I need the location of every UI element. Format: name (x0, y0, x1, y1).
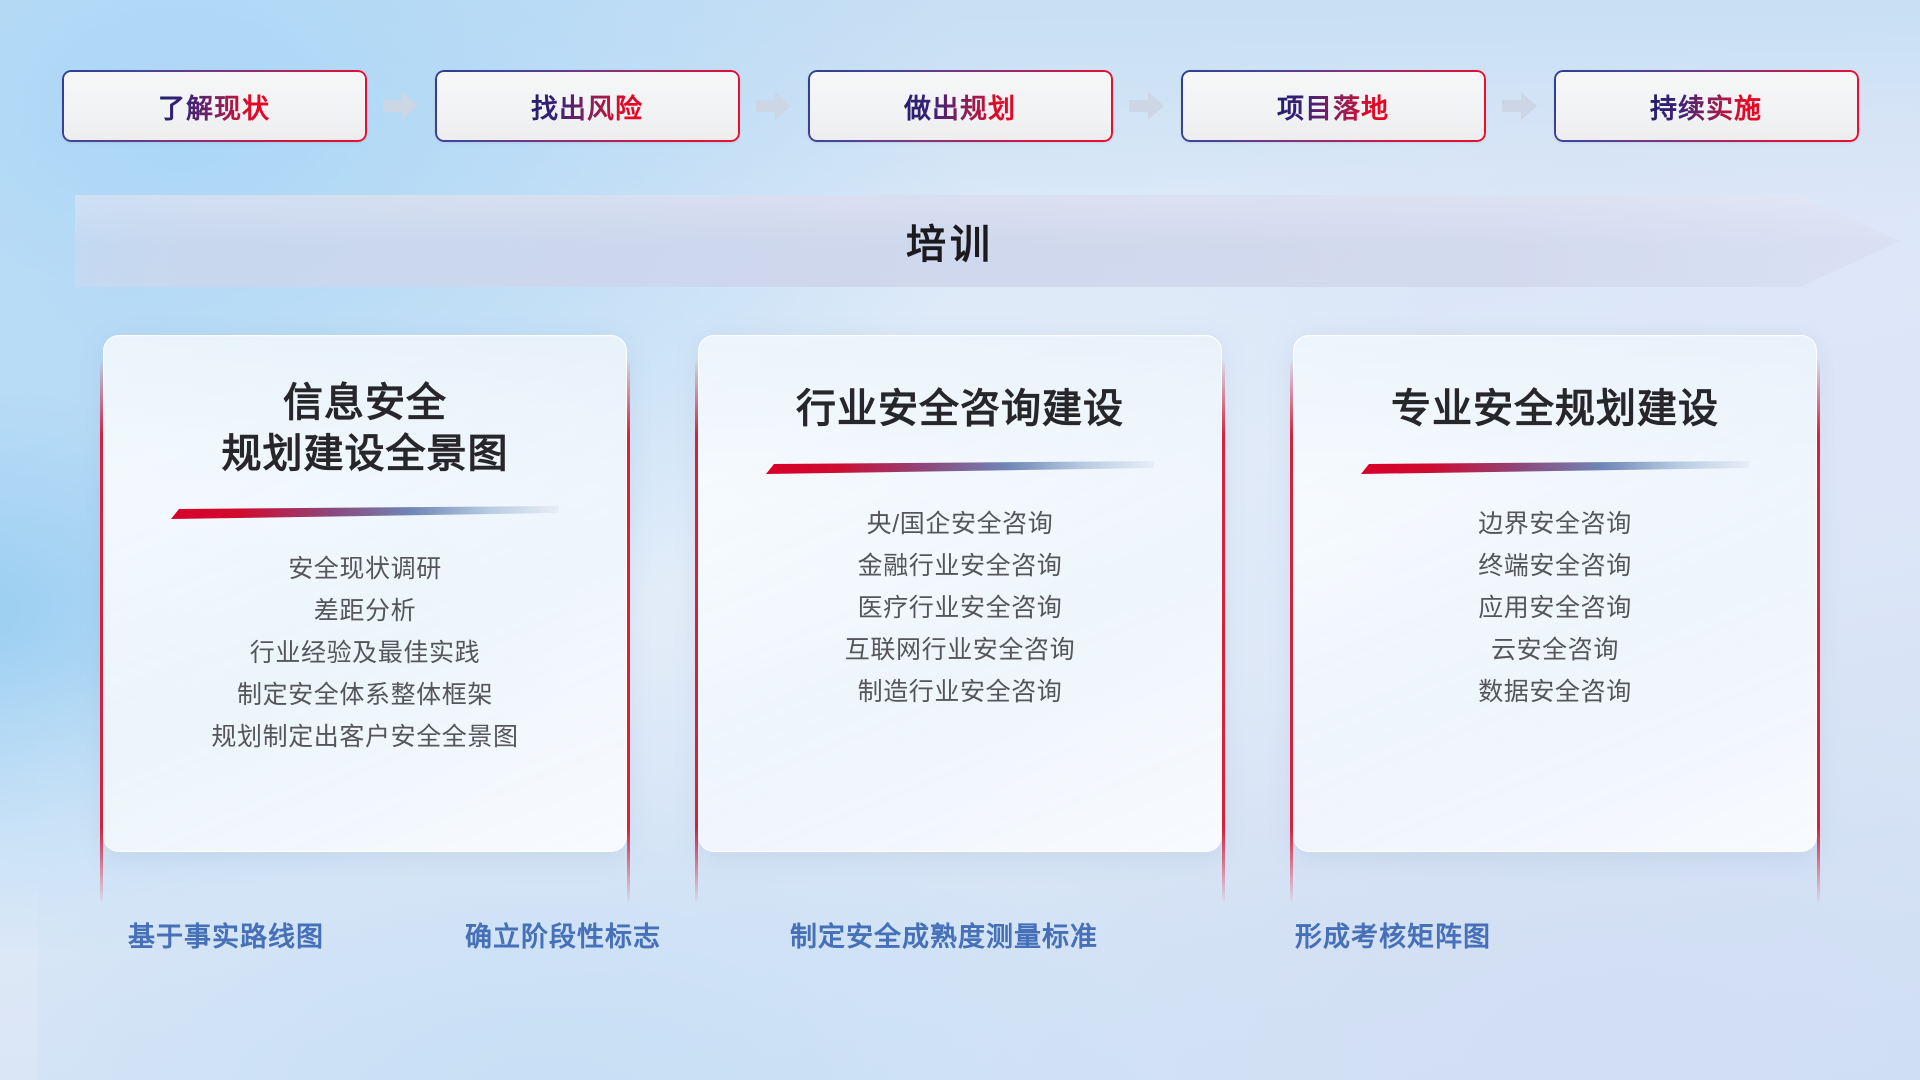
step-box-1[interactable]: 了解现状 (62, 70, 367, 142)
list-item: 行业经验及最佳实践 (211, 632, 518, 674)
card-1-title-line-1: 信息安全 (222, 378, 509, 429)
chevron-right-arrow-icon (1502, 91, 1538, 121)
card-1-divider (171, 506, 559, 522)
card-3-title: 专业安全规划建设 (1391, 384, 1719, 435)
card-3[interactable]: 专业安全规划建设 (1290, 335, 1820, 880)
list-item: 安全现状调研 (211, 548, 518, 590)
caption-row: 基于事实路线图 确立阶段性标志 制定安全成熟度测量标准 形成考核矩阵图 (0, 915, 1920, 963)
card-1[interactable]: 信息安全 规划建设全景图 (100, 335, 630, 880)
card-3-body: 专业安全规划建设 (1293, 335, 1817, 852)
chevron-right-arrow-icon (756, 91, 792, 121)
step-box-5[interactable]: 持续实施 (1554, 70, 1859, 142)
card-1-right-accent (627, 359, 630, 904)
banner-label: 培训 (0, 195, 1920, 287)
chevron-right-arrow-icon (383, 91, 419, 121)
list-item: 规划制定出客户安全全景图 (211, 716, 518, 758)
list-item: 云安全咨询 (1478, 629, 1632, 671)
caption-4: 形成考核矩阵图 (1295, 915, 1491, 954)
caption-2: 确立阶段性标志 (465, 915, 661, 954)
list-item: 应用安全咨询 (1478, 587, 1632, 629)
list-item: 制造行业安全咨询 (845, 671, 1075, 713)
card-2[interactable]: 行业安全咨询建设 (695, 335, 1225, 880)
card-3-list: 边界安全咨询 终端安全咨询 应用安全咨询 云安全咨询 数据安全咨询 (1478, 503, 1632, 713)
step-label-1: 了解现状 (158, 87, 270, 126)
list-item: 央/国企安全咨询 (845, 503, 1075, 545)
card-2-title: 行业安全咨询建设 (796, 384, 1124, 435)
card-2-body: 行业安全咨询建设 (698, 335, 1222, 852)
card-1-list: 安全现状调研 差距分析 行业经验及最佳实践 制定安全体系整体框架 规划制定出客户… (211, 548, 518, 758)
step-box-4[interactable]: 项目落地 (1181, 70, 1486, 142)
step-label-3: 做出规划 (904, 87, 1016, 126)
card-2-list: 央/国企安全咨询 金融行业安全咨询 医疗行业安全咨询 互联网行业安全咨询 制造行… (845, 503, 1075, 713)
list-item: 边界安全咨询 (1478, 503, 1632, 545)
card-1-title-line-2: 规划建设全景图 (222, 429, 509, 480)
card-3-title-line-1: 专业安全规划建设 (1391, 384, 1719, 435)
step-label-5: 持续实施 (1650, 87, 1762, 126)
caption-1: 基于事实路线图 (128, 915, 324, 954)
caption-3: 制定安全成熟度测量标准 (790, 915, 1098, 954)
process-step-row: 了解现状 找出风险 做出规划 项目落地 持续实施 (0, 70, 1920, 142)
list-item: 数据安全咨询 (1478, 671, 1632, 713)
card-1-title: 信息安全 规划建设全景图 (222, 378, 509, 480)
card-3-right-accent (1817, 359, 1820, 904)
step-label-2: 找出风险 (531, 87, 643, 126)
card-row: 信息安全 规划建设全景图 (0, 335, 1920, 895)
list-item: 金融行业安全咨询 (845, 545, 1075, 587)
training-banner: 培训 (0, 195, 1920, 287)
list-item: 互联网行业安全咨询 (845, 629, 1075, 671)
card-3-divider (1361, 461, 1749, 477)
step-box-3[interactable]: 做出规划 (808, 70, 1113, 142)
list-item: 差距分析 (211, 590, 518, 632)
card-2-title-line-1: 行业安全咨询建设 (796, 384, 1124, 435)
step-box-2[interactable]: 找出风险 (435, 70, 740, 142)
chevron-right-arrow-icon (1129, 91, 1165, 121)
list-item: 医疗行业安全咨询 (845, 587, 1075, 629)
list-item: 终端安全咨询 (1478, 545, 1632, 587)
card-2-divider (766, 461, 1154, 477)
list-item: 制定安全体系整体框架 (211, 674, 518, 716)
step-label-4: 项目落地 (1277, 87, 1389, 126)
card-2-right-accent (1222, 359, 1225, 904)
card-1-body: 信息安全 规划建设全景图 (103, 335, 627, 852)
